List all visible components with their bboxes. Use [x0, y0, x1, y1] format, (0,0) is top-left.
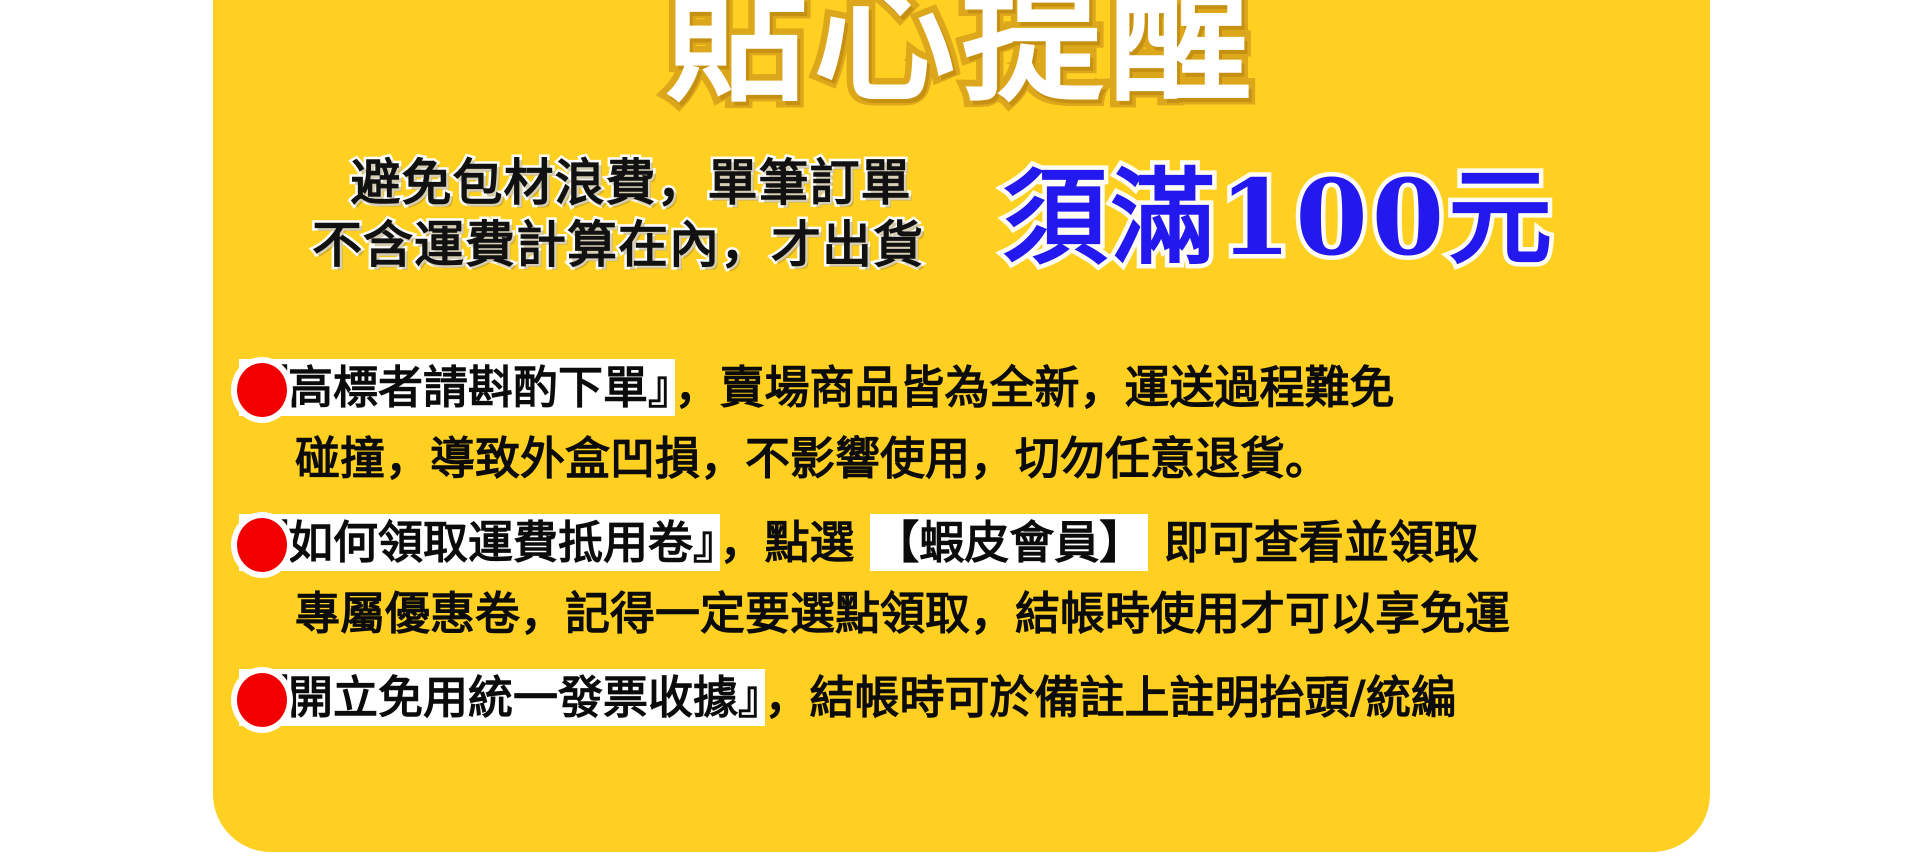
price-emphasis: 須滿100元 [1003, 160, 1613, 276]
bullet-text-1: 『高標者請斟酌下單』，賣場商品皆為全新，運送過程難免 碰撞，導致外盒凹損，不影響… [213, 352, 1710, 494]
bullet-1-highlight: 『高標者請斟酌下單』 [239, 359, 675, 416]
red-dot-icon [237, 518, 287, 572]
list-item: 『開立免用統一發票收據』，結帳時可於備註上註明抬頭/統編 [213, 662, 1710, 733]
subheadline: 避免包材浪費，單筆訂單 不含運費計算在內，才出貨 須滿100元 [213, 152, 1710, 292]
list-item: 『如何領取運費抵用卷』，點選 【蝦皮會員】 即可查看並領取 專屬優惠卷，記得一定… [213, 507, 1710, 649]
subheadline-line-1: 避免包材浪費，單筆訂單 [213, 152, 1023, 214]
bullet-list: 『高標者請斟酌下單』，賣場商品皆為全新，運送過程難免 碰撞，導致外盒凹損，不影響… [213, 352, 1710, 746]
bullet-2-highlight: 『如何領取運費抵用卷』 [239, 514, 720, 571]
page-title: 貼心提醒 [666, 0, 1258, 124]
list-item: 『高標者請斟酌下單』，賣場商品皆為全新，運送過程難免 碰撞，導致外盒凹損，不影響… [213, 352, 1710, 494]
page-title-wrap: 貼心提醒 [213, 0, 1710, 124]
bullet-3-highlight: 『開立免用統一發票收據』 [239, 669, 765, 726]
subheadline-black-text: 避免包材浪費，單筆訂單 不含運費計算在內，才出貨 [213, 152, 1023, 276]
bullet-2-line1-rest: 即可查看並領取 [1148, 516, 1479, 569]
red-dot-icon [237, 673, 287, 727]
red-dot-icon [237, 363, 287, 417]
notice-card: 貼心提醒 避免包材浪費，單筆訂單 不含運費計算在內，才出貨 須滿100元 『高標… [213, 0, 1710, 852]
bullet-3-line1-rest: ，結帳時可於備註上註明抬頭/統編 [765, 671, 1456, 724]
notice-banner: 貼心提醒 避免包材浪費，單筆訂單 不含運費計算在內，才出貨 須滿100元 『高標… [0, 0, 1920, 860]
bullet-2-line2: 專屬優惠卷，記得一定要選點領取，結帳時使用才可以享免運 [239, 578, 1710, 649]
bullet-2-highlight-2: 【蝦皮會員】 [870, 514, 1148, 571]
bullet-1-line2: 碰撞，導致外盒凹損，不影響使用，切勿任意退貨。 [239, 423, 1710, 494]
bullet-1-line1-rest: ，賣場商品皆為全新，運送過程難免 [675, 361, 1395, 414]
subheadline-line-2: 不含運費計算在內，才出貨 [213, 214, 1023, 276]
bullet-text-3: 『開立免用統一發票收據』，結帳時可於備註上註明抬頭/統編 [213, 662, 1710, 733]
bullet-text-2: 『如何領取運費抵用卷』，點選 【蝦皮會員】 即可查看並領取 專屬優惠卷，記得一定… [213, 507, 1710, 649]
bullet-2-line1-mid: ，點選 [720, 516, 871, 569]
